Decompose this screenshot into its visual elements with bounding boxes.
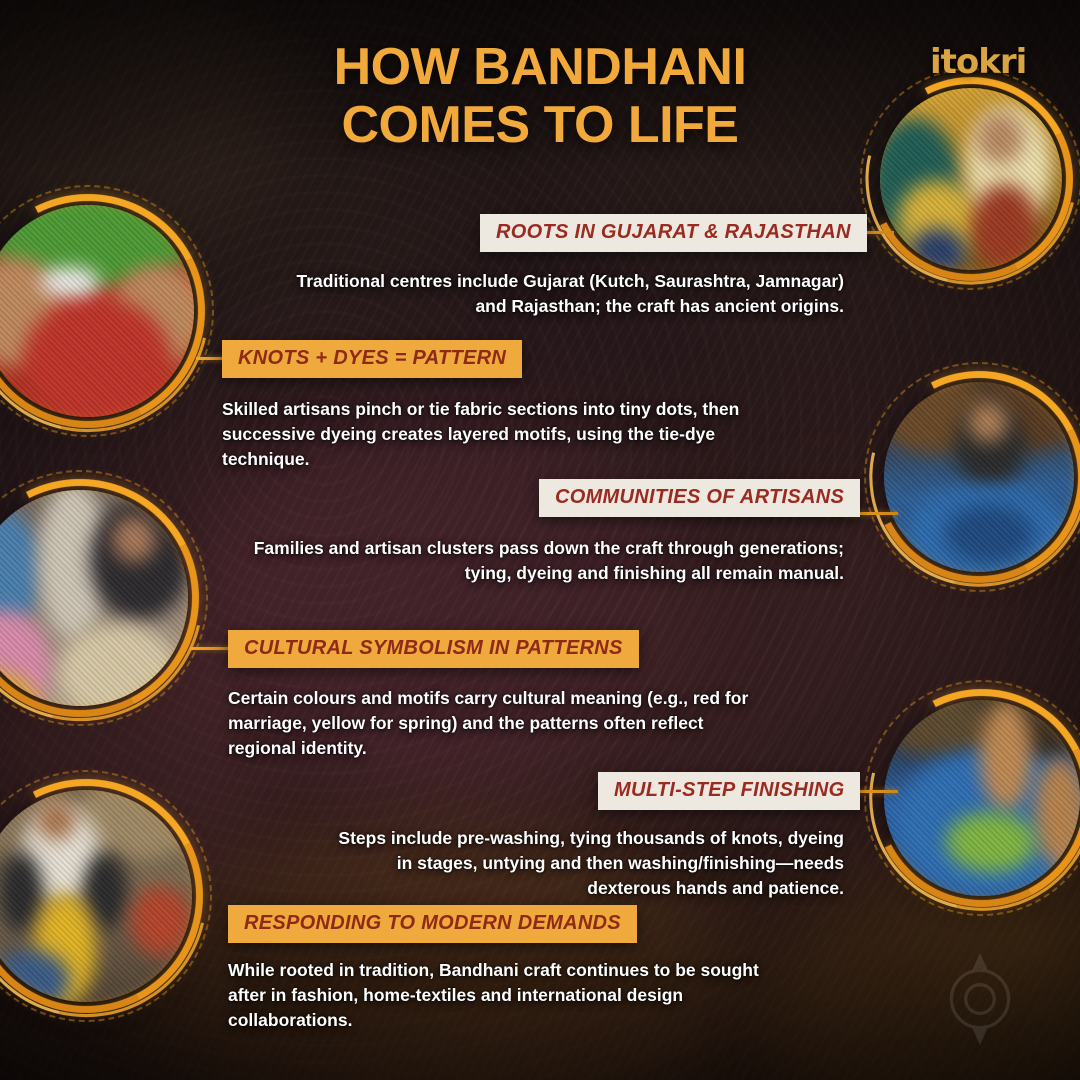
section-body-roots-in-gujarat-rajasthan: Traditional centres include Gujarat (Kut… [270,269,844,319]
photo-hands-tying-red-fabric-knots [0,205,194,417]
section-body-responding-to-modern-demands: While rooted in tradition, Bandhani craf… [228,958,784,1033]
infographic-poster: HOW BANDHANI COMES TO LIFE itokri ROOTS … [0,0,1080,1080]
photo-woman-tying-cream-fabric-outdoors [0,490,188,706]
section-body-multi-step-finishing: Steps include pre-washing, tying thousan… [318,826,844,901]
photo-artisan-lifting-yellow-dyed-fabric [0,790,192,1002]
section-body-communities-of-artisans: Families and artisan clusters pass down … [244,536,844,586]
connector-line-4 [190,647,232,650]
page-title-line-1: HOW BANDHANI [0,38,1080,96]
section-heading-responding-to-modern-demands: RESPONDING TO MODERN DEMANDS [228,905,637,943]
section-heading-roots-in-gujarat-rajasthan: ROOTS IN GUJARAT & RAJASTHAN [480,214,867,252]
fabric-motif-icon [920,944,1040,1054]
logo-text: itokri [930,40,1042,84]
section-body-cultural-symbolism-in-patterns: Certain colours and motifs carry cultura… [228,686,766,761]
section-heading-multi-step-finishing: MULTI-STEP FINISHING [598,772,860,810]
section-heading-communities-of-artisans: COMMUNITIES OF ARTISANS [539,479,860,517]
section-heading-knots-dyes-pattern: KNOTS + DYES = PATTERN [222,340,522,378]
page-title-line-2: COMES TO LIFE [0,96,1080,154]
itokri-logo[interactable]: itokri [930,40,1042,84]
section-body-knots-dyes-pattern: Skilled artisans pinch or tie fabric sec… [222,397,752,472]
page-title: HOW BANDHANI COMES TO LIFE [0,38,1080,154]
photo-indigo-dye-vat-dipping-fabric [884,700,1080,896]
photo-artisan-dyeing-fabric-in-blue-vat [884,382,1074,572]
section-heading-cultural-symbolism-in-patterns: CULTURAL SYMBOLISM IN PATTERNS [228,630,639,668]
